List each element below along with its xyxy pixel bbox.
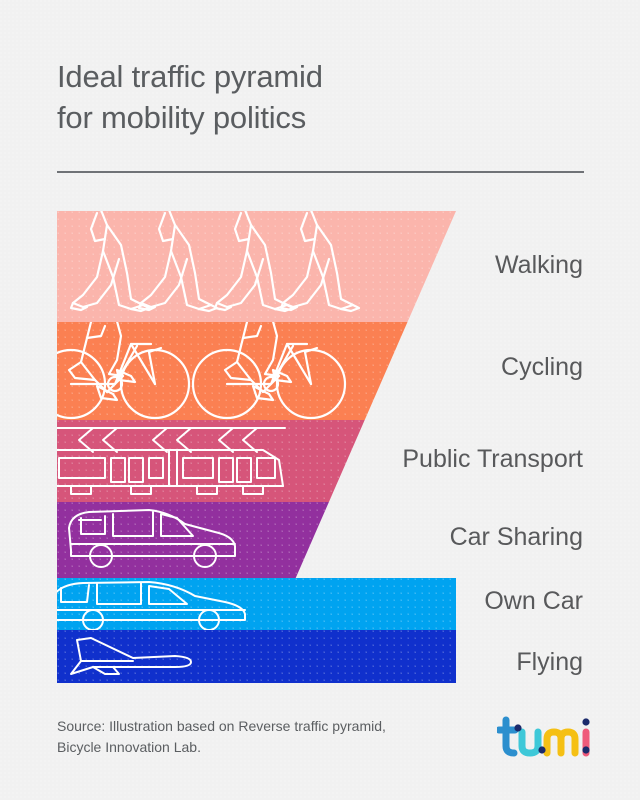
tumi-logo	[497, 716, 593, 762]
band-label-own-car: Own Car	[484, 589, 583, 614]
tram-icon	[57, 420, 317, 502]
page-title: Ideal traffic pyramid for mobility polit…	[57, 56, 587, 138]
hatchback-car-icon	[57, 502, 257, 578]
pyramid-band-own-car[interactable]	[57, 578, 456, 630]
pyramid-band-public-transport[interactable]	[57, 420, 456, 502]
pedestrians-icon	[57, 211, 357, 322]
source-attribution: Source: Illustration based on Reverse tr…	[57, 716, 457, 758]
source-line-2: Bicycle Innovation Lab.	[57, 737, 457, 758]
band-label-car-sharing: Car Sharing	[450, 525, 583, 550]
pyramid-band-flying[interactable]	[57, 630, 456, 683]
pyramid-band-car-sharing[interactable]	[57, 502, 456, 578]
tumi-logo-mark	[497, 716, 593, 762]
source-line-1: Source: Illustration based on Reverse tr…	[57, 716, 457, 737]
pyramid-band-walking[interactable]	[57, 211, 456, 322]
band-label-walking: Walking	[495, 253, 583, 278]
page-title-line-1: Ideal traffic pyramid	[57, 56, 587, 97]
infographic-page: { "title": { "line1": "Ideal traffic pyr…	[0, 0, 640, 800]
title-divider	[57, 171, 584, 173]
band-label-public-transport: Public Transport	[402, 447, 583, 472]
band-label-flying: Flying	[516, 650, 583, 675]
band-label-cycling: Cycling	[501, 355, 583, 380]
page-title-line-2: for mobility politics	[57, 97, 587, 138]
bicycle-icon	[57, 322, 357, 420]
airplane-icon	[57, 630, 217, 683]
sedan-car-icon	[57, 578, 257, 630]
pyramid-band-cycling[interactable]	[57, 322, 456, 420]
traffic-pyramid-chart	[57, 211, 456, 683]
